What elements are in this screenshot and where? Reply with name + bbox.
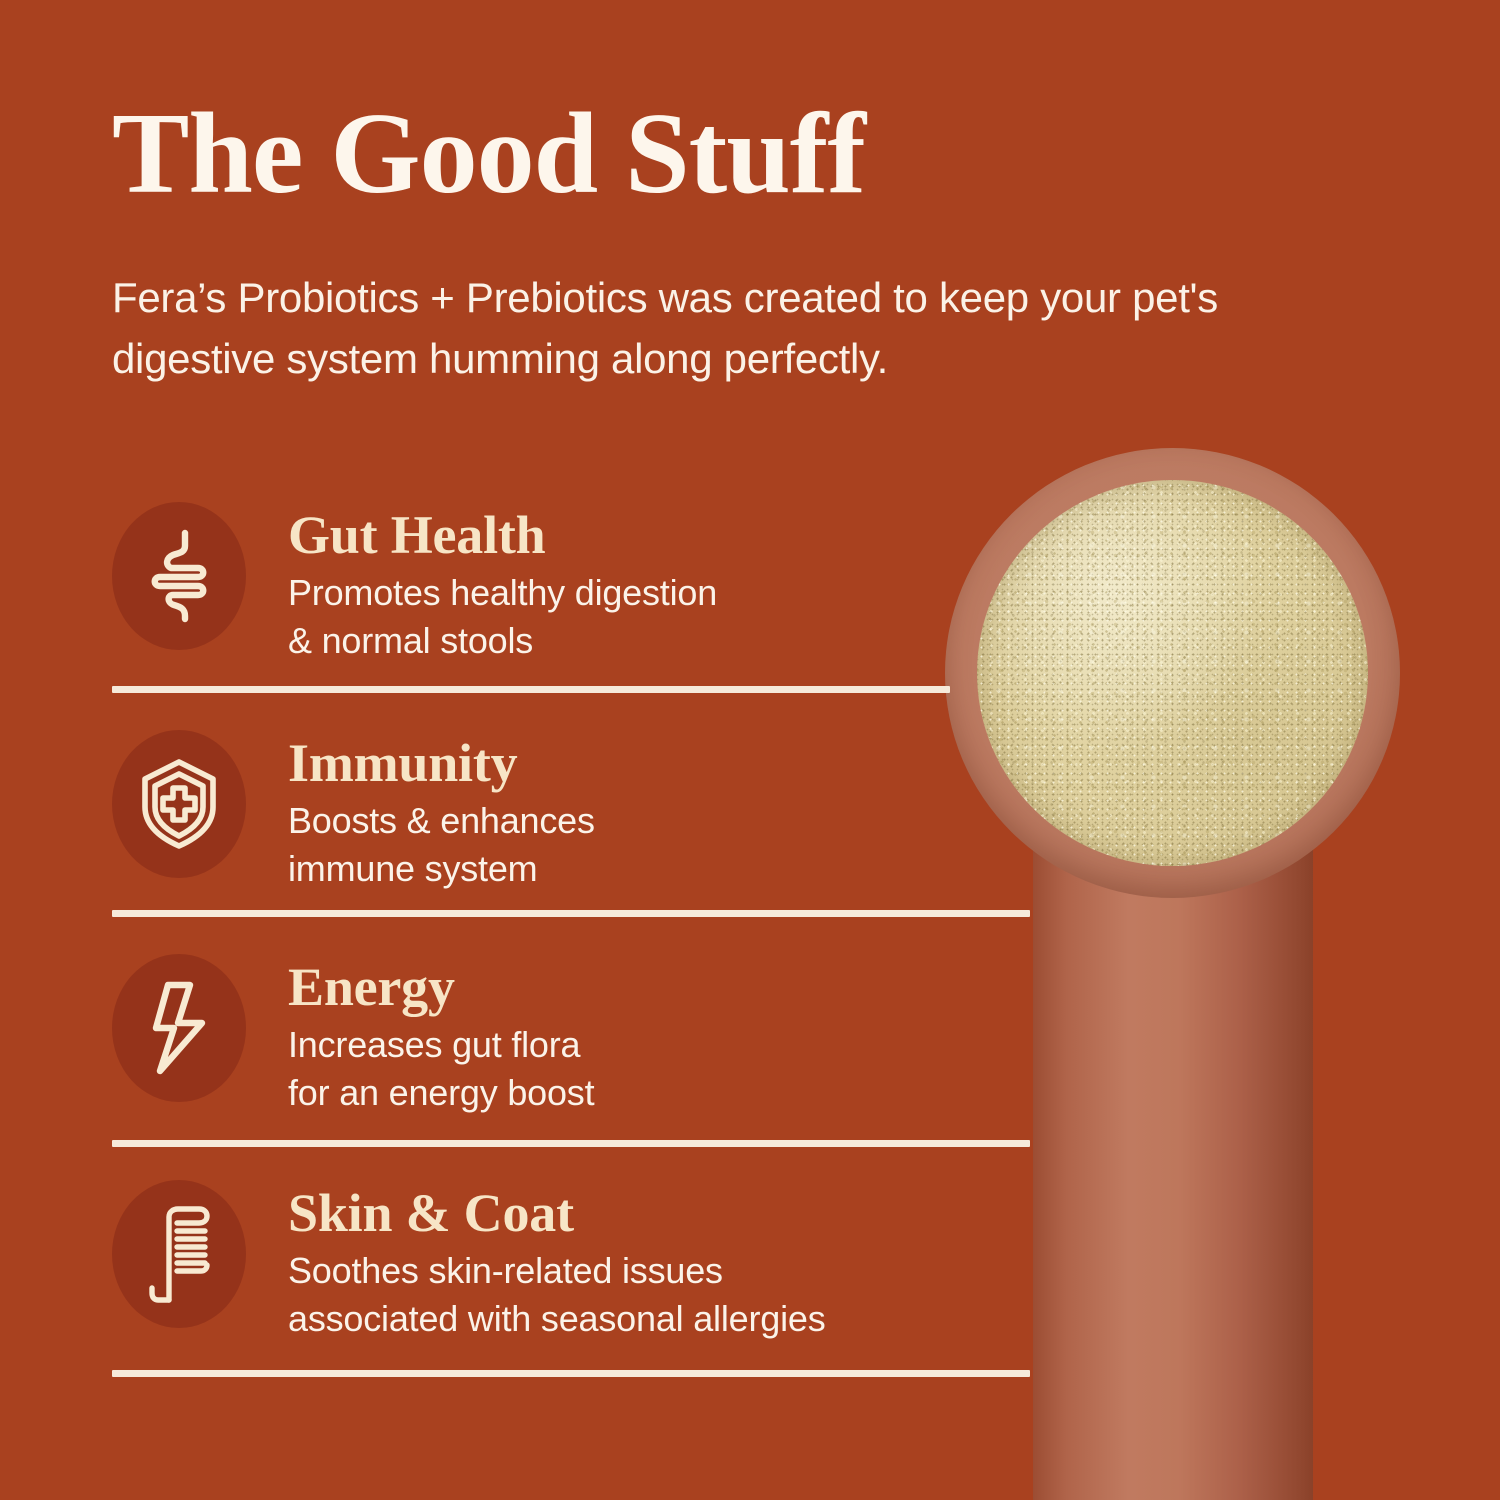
feature-text-immunity: Immunity Boosts & enhances immune system	[288, 730, 595, 894]
product-benefits-infographic: The Good Stuff Fera’s Probiotics + Prebi…	[0, 0, 1500, 1500]
intestine-icon	[112, 502, 246, 650]
feature-title: Immunity	[288, 736, 595, 791]
feature-description: Soothes skin-related issues associated w…	[288, 1247, 826, 1343]
feature-row-energy: Energy Increases gut flora for an energy…	[112, 954, 594, 1118]
feature-description: Promotes healthy digestion & normal stoo…	[288, 569, 717, 665]
feature-row-immunity: Immunity Boosts & enhances immune system	[112, 730, 595, 894]
feature-title: Gut Health	[288, 508, 717, 563]
feature-list: Gut Health Promotes healthy digestion & …	[0, 0, 1500, 1500]
divider-1	[112, 686, 950, 693]
feature-title: Skin & Coat	[288, 1186, 826, 1241]
feature-description: Boosts & enhances immune system	[288, 797, 595, 893]
lightning-bolt-icon	[112, 954, 246, 1102]
feature-description: Increases gut flora for an energy boost	[288, 1021, 594, 1117]
feature-text-skin-and-coat: Skin & Coat Soothes skin-related issues …	[288, 1180, 826, 1344]
feature-row-skin-and-coat: Skin & Coat Soothes skin-related issues …	[112, 1180, 826, 1344]
feature-text-energy: Energy Increases gut flora for an energy…	[288, 954, 594, 1118]
divider-4	[112, 1370, 1030, 1377]
comb-icon	[112, 1180, 246, 1328]
feature-row-gut-health: Gut Health Promotes healthy digestion & …	[112, 502, 717, 666]
feature-title: Energy	[288, 960, 594, 1015]
divider-2	[112, 910, 1030, 917]
divider-3	[112, 1140, 1030, 1147]
shield-cross-icon	[112, 730, 246, 878]
feature-text-gut-health: Gut Health Promotes healthy digestion & …	[288, 502, 717, 666]
